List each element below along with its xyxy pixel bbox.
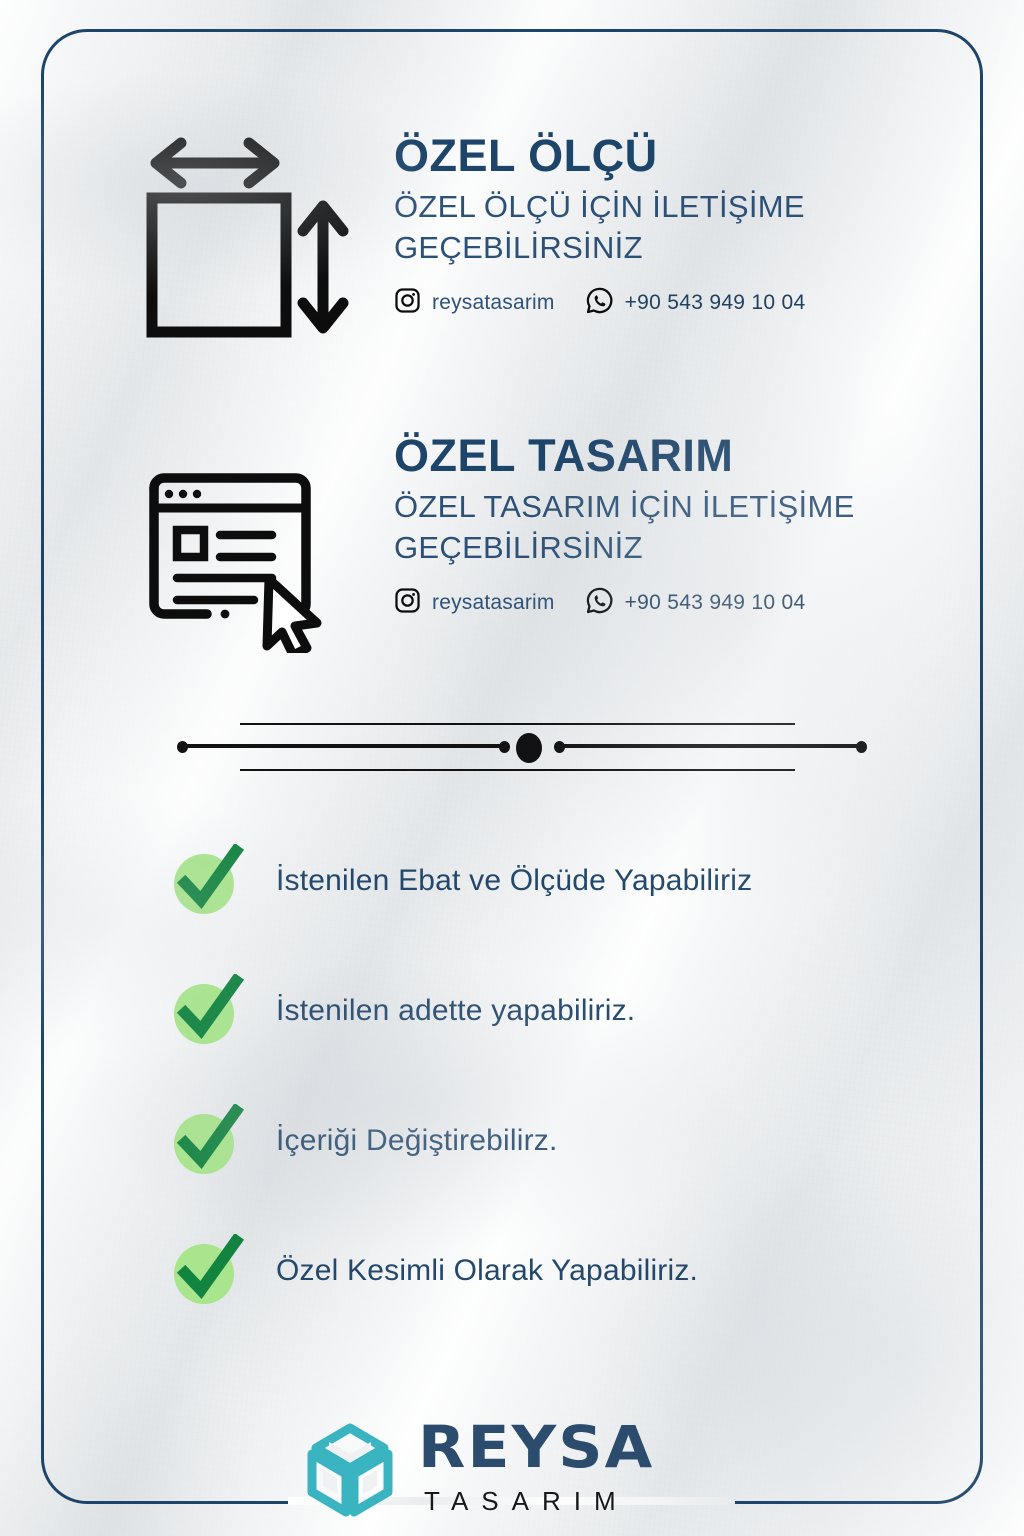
list-item: Özel Kesimli Olarak Yapabiliriz. — [170, 1230, 930, 1312]
section-title: ÖZEL TASARIM — [394, 432, 855, 479]
instagram-contact[interactable]: reysatasarim — [394, 287, 555, 319]
brand-logo-text: REYSA TASARIM — [418, 1418, 641, 1514]
list-item: İstenilen Ebat ve Ölçüde Yapabiliriz — [170, 840, 930, 922]
section-subtitle: ÖZEL TASARIM İÇİN İLETİŞİME GEÇEBİLİRSİN… — [394, 487, 855, 568]
section-subtitle-line2: GEÇEBİLİRSİNİZ — [394, 530, 643, 565]
feature-checklist: İstenilen Ebat ve Ölçüde Yapabiliriz İst… — [170, 840, 930, 1312]
brand-logo[interactable]: REYSA TASARIM — [296, 1418, 726, 1530]
dimensions-square-icon — [136, 130, 361, 355]
green-check-icon — [170, 974, 244, 1048]
section-title: ÖZEL ÖLÇÜ — [394, 132, 805, 179]
decorative-divider — [175, 715, 875, 777]
whatsapp-contact[interactable]: +90 543 949 10 04 — [585, 286, 806, 320]
green-check-icon — [170, 844, 244, 918]
section-subtitle-line2: GEÇEBİLİRSİNİZ — [394, 230, 643, 265]
list-item: İçeriği Değiştirebilirz. — [170, 1100, 930, 1182]
contact-row: reysatasarim +90 543 949 10 04 — [394, 286, 805, 320]
divider-rule-bottom — [240, 769, 795, 771]
divider-dot-start — [177, 741, 188, 753]
section-subtitle: ÖZEL ÖLÇÜ İÇİN İLETİŞİME GEÇEBİLİRSİNİZ — [394, 187, 805, 268]
list-item-label: Özel Kesimli Olarak Yapabiliriz. — [276, 1254, 698, 1288]
list-item-label: İçeriği Değiştirebilirz. — [276, 1124, 558, 1158]
divider-rule-top — [240, 723, 795, 725]
instagram-contact[interactable]: reysatasarim — [394, 587, 555, 619]
brand-tagline: TASARIM — [424, 1488, 641, 1514]
list-item-label: İstenilen Ebat ve Ölçüde Yapabiliriz — [276, 864, 752, 898]
divider-bar-left — [185, 744, 505, 748]
list-item-label: İstenilen adette yapabiliriz. — [276, 994, 635, 1028]
instagram-icon — [394, 287, 421, 319]
section-ozel-tasarim: ÖZEL TASARIM ÖZEL TASARIM İÇİN İLETİŞİME… — [394, 432, 855, 620]
divider-middle-row — [175, 739, 875, 753]
whatsapp-phone: +90 543 949 10 04 — [625, 291, 806, 315]
green-check-icon — [170, 1104, 244, 1178]
hexagon-cube-logo-icon — [296, 1420, 404, 1533]
divider-bar-right — [562, 744, 859, 748]
divider-dot-end — [856, 741, 867, 753]
green-check-icon — [170, 1234, 244, 1308]
instagram-handle: reysatasarim — [432, 291, 555, 315]
whatsapp-phone: +90 543 949 10 04 — [625, 591, 806, 615]
section-subtitle-line1: ÖZEL TASARIM İÇİN İLETİŞİME — [394, 489, 855, 524]
whatsapp-contact[interactable]: +90 543 949 10 04 — [585, 586, 806, 620]
web-design-cursor-icon — [136, 458, 336, 653]
section-subtitle-line1: ÖZEL ÖLÇÜ İÇİN İLETİŞİME — [394, 189, 805, 224]
divider-dot-center — [516, 733, 542, 763]
section-ozel-olcu: ÖZEL ÖLÇÜ ÖZEL ÖLÇÜ İÇİN İLETİŞİME GEÇEB… — [394, 132, 805, 320]
contact-row: reysatasarim +90 543 949 10 04 — [394, 586, 855, 620]
poster-canvas: ÖZEL ÖLÇÜ ÖZEL ÖLÇÜ İÇİN İLETİŞİME GEÇEB… — [0, 0, 1024, 1536]
list-item: İstenilen adette yapabiliriz. — [170, 970, 930, 1052]
instagram-icon — [394, 587, 421, 619]
divider-dot-left-inner — [499, 741, 510, 753]
whatsapp-icon — [585, 586, 614, 620]
divider-dot-right-inner — [554, 741, 565, 753]
whatsapp-icon — [585, 286, 614, 320]
brand-name: REYSA — [418, 1418, 654, 1476]
instagram-handle: reysatasarim — [432, 591, 555, 615]
